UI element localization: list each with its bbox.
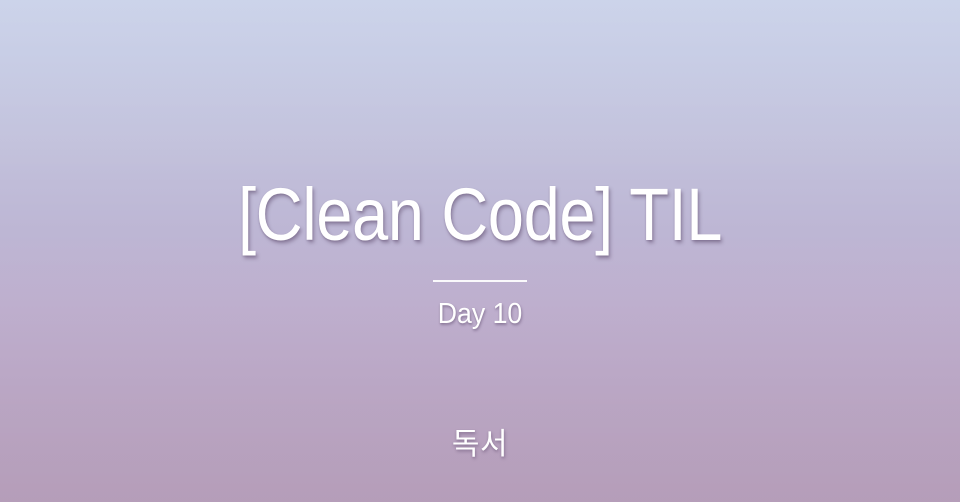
page-title: [Clean Code] TIL xyxy=(58,178,903,252)
category-label: 독서 xyxy=(0,428,960,461)
title-block: [Clean Code] TIL xyxy=(0,178,960,252)
cover-banner: [Clean Code] TIL Day 10 독서 xyxy=(0,0,960,502)
page-subtitle: Day 10 xyxy=(38,299,921,331)
title-divider xyxy=(433,280,527,282)
category-block: 독서 xyxy=(0,428,960,461)
cover-content: [Clean Code] TIL Day 10 독서 xyxy=(0,0,960,502)
subtitle-block: Day 10 xyxy=(0,299,960,331)
